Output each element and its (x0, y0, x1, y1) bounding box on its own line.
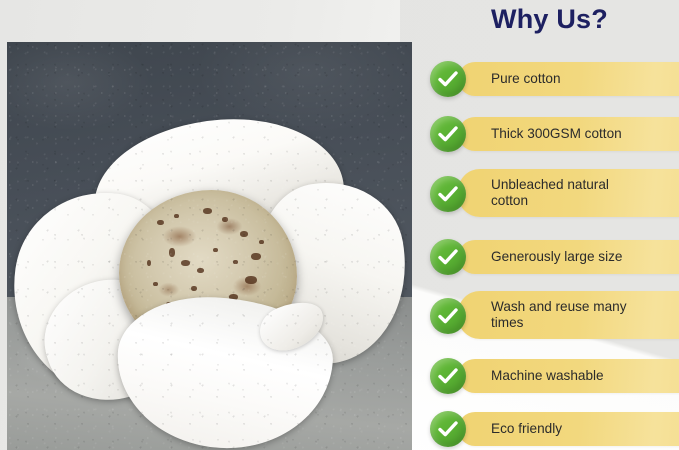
photo-grain-overlay (7, 42, 412, 450)
feature-list: Pure cotton Thick 300GSM cotton Unbleach… (430, 50, 679, 450)
feature-label: Unbleached natural cotton (491, 177, 609, 209)
feature-label: Machine washable (491, 368, 604, 384)
check-icon (430, 61, 466, 97)
infographic-canvas: Why Us? Pure cotton Thick 300GSM cotton (0, 0, 679, 450)
feature-pill[interactable]: Machine washable (458, 359, 679, 393)
feature-label: Eco friendly (491, 421, 562, 437)
feature-pill[interactable]: Wash and reuse many times (458, 291, 679, 339)
check-icon (430, 239, 466, 275)
check-icon (430, 358, 466, 394)
page-title: Why Us? (420, 4, 679, 35)
feature-pill[interactable]: Unbleached natural cotton (458, 169, 679, 217)
check-icon (430, 176, 466, 212)
feature-pill[interactable]: Generously large size (458, 240, 679, 274)
check-icon (430, 116, 466, 152)
feature-pill[interactable]: Pure cotton (458, 62, 679, 96)
feature-label: Thick 300GSM cotton (491, 126, 622, 142)
feature-label: Wash and reuse many times (491, 299, 627, 331)
feature-pill[interactable]: Eco friendly (458, 412, 679, 446)
check-icon (430, 298, 466, 334)
feature-pill[interactable]: Thick 300GSM cotton (458, 117, 679, 151)
feature-label: Generously large size (491, 249, 622, 265)
product-photo (7, 42, 412, 450)
check-icon (430, 411, 466, 447)
feature-label: Pure cotton (491, 71, 561, 87)
